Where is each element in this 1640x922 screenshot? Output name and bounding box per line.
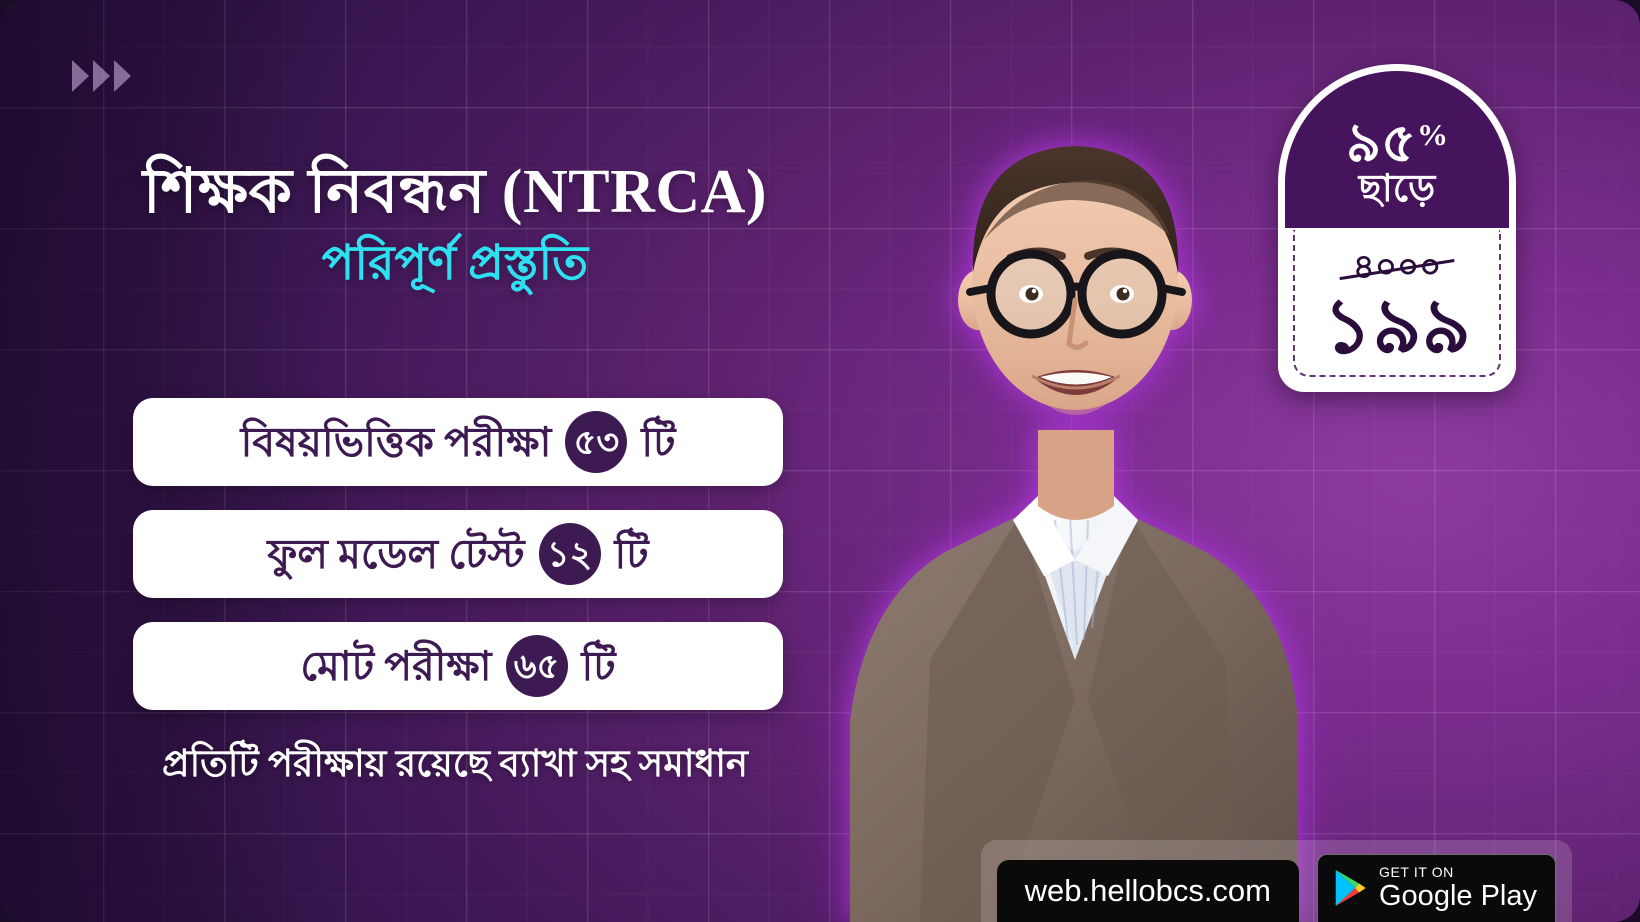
cta-bar: web.hellobcs.com GET IT ON Google Play [981,840,1572,922]
promo-banner: শিক্ষক নিবন্ধন (NTRCA) পরিপূর্ণ প্রস্তুত… [0,0,1640,922]
page-subtitle: পরিপূর্ণ প্রস্তুতি [0,236,910,293]
play-arrow-icon [93,60,110,92]
discount-percent: ৯৫ % [1346,116,1448,170]
store-cta-small: GET IT ON [1379,865,1537,879]
feature-label: বিষয়ভিত্তিক পরীক্ষা [241,422,552,463]
feature-pill-full-model-test[interactable]: ফুল মডেল টেস্ট ১২ টি [133,510,783,598]
old-price: ৪০০০ [1343,249,1451,287]
feature-label: ফুল মডেল টেস্ট [267,534,524,575]
feature-list: বিষয়ভিত্তিক পরীক্ষা ৫৩ টি ফুল মডেল টেস্… [133,398,783,710]
feature-pill-total-exams[interactable]: মোট পরীক্ষা ৬৫ টি [133,622,783,710]
feature-count-badge: ১২ [539,523,601,585]
discount-badge: ৯৫ % ছাড়ে ৪০০০ ১৯৯ [1278,64,1516,392]
percent-symbol: % [1417,116,1448,155]
store-name: Google Play [1379,882,1537,911]
website-button[interactable]: web.hellobcs.com [997,860,1299,922]
play-arrow-icon [72,60,89,92]
feature-unit: টি [582,646,616,687]
discount-badge-bottom: ৪০০০ ১৯৯ [1285,228,1509,385]
google-play-icon [1332,868,1368,908]
discount-off-label: ছাড়ে [1359,168,1435,212]
new-price: ১৯৯ [1323,289,1471,365]
triple-play-arrow-icon [72,60,131,92]
feature-pill-subject-exams[interactable]: বিষয়ভিত্তিক পরীক্ষা ৫৩ টি [133,398,783,486]
feature-count-badge: ৫৩ [565,411,627,473]
discount-badge-inner: ৯৫ % ছাড়ে ৪০০০ ১৯৯ [1285,71,1509,385]
discount-percent-value: ৯৫ [1346,116,1416,170]
google-play-button[interactable]: GET IT ON Google Play [1317,854,1556,922]
google-play-text: GET IT ON Google Play [1379,865,1537,911]
tagline: প্রতিটি পরীক্ষায় রয়েছে ব্যাখা সহ সমাধা… [0,734,910,797]
headline-block: শিক্ষক নিবন্ধন (NTRCA) পরিপূর্ণ প্রস্তুত… [0,158,910,293]
discount-badge-top: ৯৫ % ছাড়ে [1285,71,1509,228]
page-title: শিক্ষক নিবন্ধন (NTRCA) [0,158,910,226]
feature-unit: টি [615,534,649,575]
play-arrow-icon [114,60,131,92]
feature-unit: টি [641,422,675,463]
feature-count-badge: ৬৫ [506,635,568,697]
feature-label: মোট পরীক্ষা [300,646,491,687]
